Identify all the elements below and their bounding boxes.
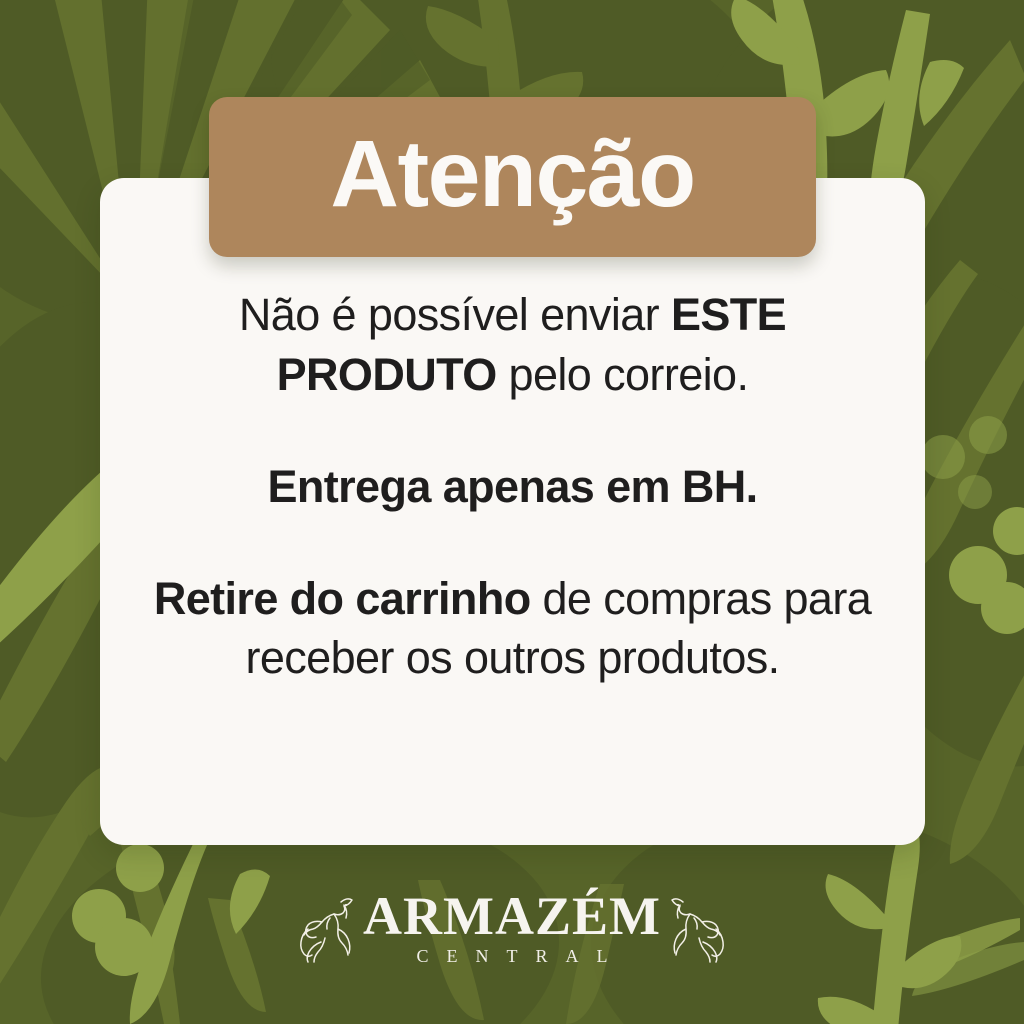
rearing-horse-icon xyxy=(665,893,727,963)
text-segment: pelo correio. xyxy=(497,349,749,400)
paragraph-delivery-area: Entrega apenas em BH. xyxy=(140,457,885,517)
brand-subtitle: CENTRAL xyxy=(399,947,626,965)
banner-title: Atenção xyxy=(330,127,694,228)
promo-graphic: Atenção Não é possível enviar ESTE PRODU… xyxy=(0,0,1024,1024)
paragraph-cart-instruction: Retire do carrinho de compras para receb… xyxy=(140,569,885,689)
notice-text-block: Não é possível enviar ESTE PRODUTO pelo … xyxy=(140,285,885,688)
paragraph-shipping-restriction: Não é possível enviar ESTE PRODUTO pelo … xyxy=(140,285,885,405)
text-segment: Não é possível enviar xyxy=(239,289,671,340)
brand-logo: ARMAZÉM CENTRAL xyxy=(0,884,1024,972)
attention-banner: Atenção xyxy=(209,97,816,257)
text-segment-bold: Retire do carrinho xyxy=(154,573,531,624)
rearing-horse-icon xyxy=(297,893,359,963)
text-segment-bold: Entrega apenas em BH. xyxy=(267,461,757,512)
brand-name: ARMAZÉM xyxy=(363,891,661,942)
brand-wordmark: ARMAZÉM CENTRAL xyxy=(363,891,661,965)
